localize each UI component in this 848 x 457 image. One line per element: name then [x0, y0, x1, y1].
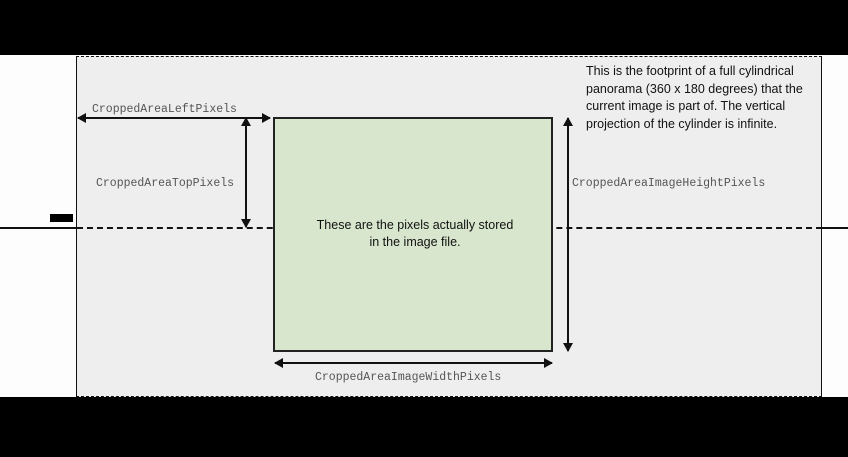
- equator-line-right-segment: [821, 227, 848, 229]
- diagram-canvas: These are the pixels actually stored in …: [0, 0, 848, 457]
- label-cropped-area-image-height-pixels: CroppedAreaImageHeightPixels: [572, 177, 765, 190]
- label-cropped-area-top-pixels: CroppedAreaTopPixels: [96, 177, 234, 190]
- stored-image-caption: These are the pixels actually stored in …: [275, 217, 555, 251]
- arrow-cropped-area-top-pixels: [245, 118, 247, 227]
- arrow-cropped-area-image-height-pixels: [567, 118, 569, 351]
- stored-image-caption-line-2: in the image file.: [275, 234, 555, 251]
- stored-image-caption-line-1: These are the pixels actually stored: [275, 217, 555, 234]
- label-cropped-area-image-width-pixels: CroppedAreaImageWidthPixels: [315, 371, 501, 384]
- letterbox-bar-bottom: [0, 397, 848, 457]
- stored-image-region: These are the pixels actually stored in …: [273, 117, 553, 352]
- arrow-cropped-area-image-width-pixels: [275, 362, 552, 364]
- label-cropped-area-left-pixels: CroppedAreaLeftPixels: [92, 103, 237, 116]
- equator-line-left-segment: [0, 227, 77, 229]
- panorama-description-text: This is the footprint of a full cylindri…: [586, 63, 818, 133]
- equator-marker-block: [50, 214, 73, 222]
- letterbox-bar-top: [0, 0, 848, 55]
